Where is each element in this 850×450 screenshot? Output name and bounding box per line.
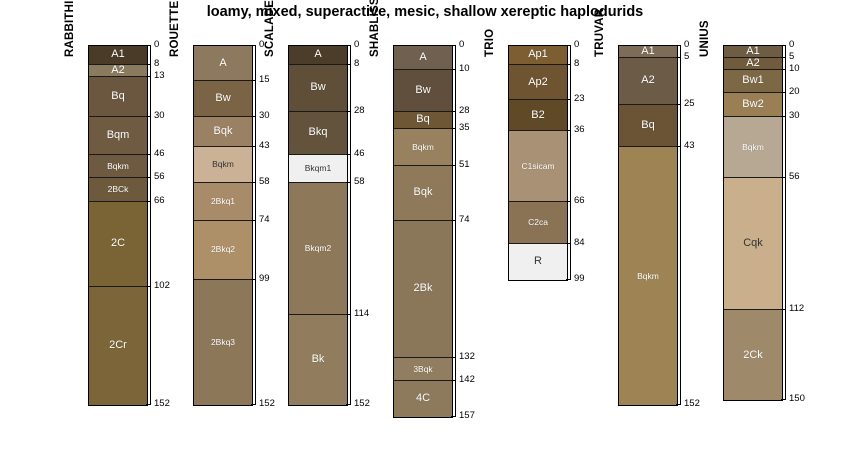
depth-tick — [566, 130, 571, 131]
depth-tick — [146, 286, 151, 287]
horizon-label: Bqkm — [742, 143, 764, 152]
depth-tick — [346, 182, 351, 183]
horizon-band: 2Bkq3 — [194, 280, 252, 405]
depth-tick-label: 30 — [259, 111, 270, 121]
depth-tick-label: 157 — [459, 411, 475, 421]
depth-tick-label: 56 — [789, 172, 800, 182]
depth-axis-line — [150, 45, 151, 404]
horizon-band: Ap2 — [509, 65, 567, 100]
depth-tick-label: 132 — [459, 352, 475, 362]
horizon-label: Bkq — [309, 127, 328, 138]
series-label-scalade: SCALADE — [264, 0, 276, 57]
horizon-label: Bq — [111, 91, 124, 102]
depth-tick-label: 152 — [154, 399, 170, 409]
depth-tick — [251, 146, 256, 147]
profile-column: A1A2BqBqmBqkm2BCk2C2Cr — [88, 45, 148, 406]
horizon-band: R — [509, 244, 567, 279]
depth-axis-line — [350, 45, 351, 404]
depth-axis-line — [455, 45, 456, 416]
depth-tick — [251, 80, 256, 81]
depth-tick — [146, 64, 151, 65]
horizon-band: A — [194, 46, 252, 81]
horizon-band: Bk — [289, 315, 347, 405]
horizon-label: Cqk — [743, 238, 763, 249]
horizon-band: B2 — [509, 100, 567, 131]
depth-tick-label: 56 — [154, 172, 165, 182]
horizon-label: 2C — [111, 238, 125, 249]
horizon-band: Bkqm2 — [289, 183, 347, 315]
depth-tick-label: 84 — [574, 238, 585, 248]
depth-tick-label: 58 — [259, 177, 270, 187]
horizon-band: A1 — [89, 46, 147, 65]
horizon-band: 2Bk — [394, 221, 452, 358]
depth-tick-label: 28 — [354, 106, 365, 116]
depth-tick — [146, 45, 151, 46]
depth-tick-label: 51 — [459, 160, 470, 170]
horizon-band: Bq — [89, 77, 147, 117]
horizon-band: Cqk — [724, 178, 782, 310]
depth-tick — [676, 57, 681, 58]
depth-tick — [781, 92, 786, 93]
horizon-band: Bw2 — [724, 93, 782, 117]
depth-tick-label: 30 — [789, 111, 800, 121]
depth-tick-label: 74 — [259, 215, 270, 225]
depth-tick — [451, 69, 456, 70]
depth-tick — [566, 99, 571, 100]
horizon-band: 4C — [394, 381, 452, 416]
soil-profile-plot: RABBITHILLSA1A2BqBqmBqkm2BCk2C2Cr0813304… — [0, 0, 850, 450]
depth-tick — [346, 45, 351, 46]
horizon-band: A2 — [619, 58, 677, 105]
depth-tick — [781, 177, 786, 178]
horizon-label: Bw2 — [742, 99, 763, 110]
depth-tick — [451, 380, 456, 381]
depth-tick — [346, 314, 351, 315]
horizon-label: 2Bkq1 — [211, 197, 235, 206]
horizon-label: C2ca — [528, 218, 548, 227]
depth-tick-label: 46 — [154, 149, 165, 159]
horizon-label: 2Ck — [743, 350, 763, 361]
horizon-label: Bw — [415, 85, 430, 96]
series-label-truvar: TRUVAR — [594, 9, 606, 57]
horizon-band: Bq — [619, 105, 677, 147]
depth-tick-label: 99 — [259, 274, 270, 284]
depth-tick — [146, 201, 151, 202]
depth-tick — [451, 220, 456, 221]
depth-tick — [781, 309, 786, 310]
horizon-band: Bqkm — [194, 147, 252, 182]
depth-axis-line — [680, 45, 681, 404]
series-label-shabliss: SHABLISS — [369, 0, 381, 57]
depth-tick-label: 35 — [459, 123, 470, 133]
horizon-label: Ap2 — [528, 77, 548, 88]
horizon-band: A — [289, 46, 347, 65]
horizon-label: A — [419, 52, 426, 63]
depth-tick — [251, 279, 256, 280]
depth-tick-label: 112 — [789, 304, 804, 314]
horizon-band: A2 — [724, 58, 782, 70]
depth-tick — [146, 404, 151, 405]
depth-tick-label: 0 — [574, 40, 579, 50]
depth-tick — [566, 45, 571, 46]
depth-tick-label: 66 — [574, 196, 585, 206]
depth-tick — [451, 416, 456, 417]
horizon-band: Bw — [394, 70, 452, 112]
depth-tick-label: 0 — [684, 40, 689, 50]
horizon-band: Bq — [394, 112, 452, 129]
depth-tick — [251, 116, 256, 117]
depth-tick — [566, 64, 571, 65]
depth-tick-label: 28 — [459, 106, 470, 116]
horizon-band: Bkqm1 — [289, 155, 347, 183]
horizon-label: A1 — [746, 46, 759, 57]
horizon-label: C1sicam — [521, 162, 554, 171]
horizon-band: Bqm — [89, 117, 147, 155]
depth-tick — [566, 243, 571, 244]
depth-tick-label: 99 — [574, 274, 585, 284]
depth-tick — [451, 128, 456, 129]
depth-tick-label: 43 — [684, 141, 695, 151]
horizon-band: Bqkm — [724, 117, 782, 178]
depth-axis-line — [255, 45, 256, 404]
depth-tick — [781, 45, 786, 46]
horizon-label: 2Bkq2 — [211, 245, 235, 254]
depth-tick-label: 114 — [354, 309, 369, 319]
horizon-label: Bqkm — [637, 272, 659, 281]
horizon-label: Bqk — [414, 187, 433, 198]
horizon-band: 2Cr — [89, 287, 147, 405]
depth-tick — [146, 116, 151, 117]
profile-column: Ap1Ap2B2C1sicamC2caR — [508, 45, 568, 281]
series-label-unius: UNIUS — [699, 20, 711, 57]
depth-tick — [566, 279, 571, 280]
horizon-label: Bw — [310, 82, 325, 93]
horizon-label: A1 — [111, 49, 124, 60]
horizon-label: Bq — [416, 114, 429, 125]
depth-tick — [451, 111, 456, 112]
depth-tick — [146, 177, 151, 178]
depth-tick — [676, 404, 681, 405]
depth-tick-label: 30 — [154, 111, 165, 121]
depth-tick — [346, 111, 351, 112]
horizon-label: A2 — [746, 58, 759, 69]
horizon-band: 2Bkq2 — [194, 221, 252, 280]
horizon-label: Bw1 — [742, 75, 763, 86]
depth-tick-label: 10 — [459, 64, 470, 74]
horizon-band: A1 — [724, 46, 782, 58]
horizon-label: Bkqm1 — [305, 164, 331, 173]
horizon-band: 2C — [89, 202, 147, 287]
depth-tick — [346, 154, 351, 155]
depth-tick-label: 13 — [154, 71, 165, 81]
depth-tick-label: 5 — [789, 52, 794, 62]
horizon-band: A1 — [619, 46, 677, 58]
horizon-band: 2BCk — [89, 178, 147, 202]
horizon-label: Bqm — [107, 130, 130, 141]
depth-tick — [346, 64, 351, 65]
series-label-trio: TRIO — [484, 29, 496, 57]
depth-tick-label: 150 — [789, 394, 805, 404]
depth-axis-line — [785, 45, 786, 399]
depth-tick-label: 43 — [259, 141, 270, 151]
horizon-band: A2 — [89, 65, 147, 77]
depth-tick-label: 8 — [574, 59, 579, 69]
horizon-label: Bq — [641, 120, 654, 131]
depth-tick-label: 58 — [354, 177, 365, 187]
depth-tick-label: 74 — [459, 215, 470, 225]
series-label-rouette: ROUETTE — [169, 1, 181, 57]
depth-tick-label: 8 — [354, 59, 359, 69]
depth-tick — [781, 69, 786, 70]
depth-tick — [781, 116, 786, 117]
depth-tick — [781, 399, 786, 400]
depth-tick-label: 0 — [354, 40, 359, 50]
depth-tick-label: 5 — [684, 52, 689, 62]
depth-tick — [676, 104, 681, 105]
depth-tick — [251, 220, 256, 221]
horizon-label: 3Bqk — [413, 365, 432, 374]
depth-tick — [251, 404, 256, 405]
horizon-label: B2 — [531, 110, 544, 121]
depth-tick-label: 0 — [154, 40, 159, 50]
horizon-band: Bkq — [289, 112, 347, 154]
depth-tick-label: 23 — [574, 94, 585, 104]
depth-tick-label: 46 — [354, 149, 365, 159]
depth-tick — [251, 182, 256, 183]
horizon-label: Bk — [312, 354, 325, 365]
depth-tick — [676, 146, 681, 147]
horizon-label: 2Cr — [109, 340, 127, 351]
horizon-band: Bqkm — [89, 155, 147, 179]
depth-tick — [251, 45, 256, 46]
horizon-label: Bw — [215, 93, 230, 104]
depth-tick — [146, 76, 151, 77]
depth-tick-label: 36 — [574, 125, 585, 135]
horizon-label: 2BCk — [108, 185, 129, 194]
profile-column: ABwBkqBkqm1Bkqm2Bk — [288, 45, 348, 406]
horizon-band: C1sicam — [509, 131, 567, 202]
horizon-label: 2Bkq3 — [211, 338, 235, 347]
depth-tick — [451, 165, 456, 166]
depth-tick-label: 8 — [154, 59, 159, 69]
depth-tick — [346, 404, 351, 405]
horizon-band: 3Bqk — [394, 358, 452, 382]
horizon-label: A2 — [111, 65, 124, 76]
depth-tick-label: 152 — [259, 399, 275, 409]
profile-column: ABwBqkBqkm2Bkq12Bkq22Bkq3 — [193, 45, 253, 406]
depth-tick-label: 10 — [789, 64, 800, 74]
horizon-band: 2Bkq1 — [194, 183, 252, 221]
depth-tick-label: 25 — [684, 99, 695, 109]
horizon-label: R — [534, 256, 542, 267]
horizon-label: A2 — [641, 75, 654, 86]
horizon-band: C2ca — [509, 202, 567, 244]
depth-tick-label: 152 — [354, 399, 370, 409]
horizon-label: A — [314, 49, 321, 60]
horizon-band: Bqk — [394, 166, 452, 220]
depth-tick-label: 66 — [154, 196, 165, 206]
horizon-label: Bqkm — [212, 160, 234, 169]
horizon-band: Bw1 — [724, 70, 782, 94]
profile-column: A1A2BqBqkm — [618, 45, 678, 406]
depth-tick — [781, 57, 786, 58]
depth-tick-label: 142 — [459, 375, 475, 385]
depth-tick — [146, 154, 151, 155]
depth-tick-label: 102 — [154, 281, 170, 291]
horizon-band: Bqkm — [619, 147, 677, 404]
horizon-label: Bkqm2 — [305, 244, 331, 253]
horizon-band: 2Ck — [724, 310, 782, 400]
horizon-label: Ap1 — [528, 49, 548, 60]
horizon-label: Bqk — [214, 126, 233, 137]
depth-tick-label: 20 — [789, 87, 800, 97]
depth-tick-label: 0 — [789, 40, 794, 50]
horizon-label: Bqkm — [412, 143, 434, 152]
horizon-label: A1 — [641, 46, 654, 57]
profile-column: ABwBqBqkmBqk2Bk3Bqk4C — [393, 45, 453, 418]
horizon-label: 2Bk — [414, 283, 433, 294]
horizon-band: Ap1 — [509, 46, 567, 65]
depth-tick-label: 0 — [459, 40, 464, 50]
horizon-band: Bqk — [194, 117, 252, 148]
horizon-label: A — [219, 58, 226, 69]
profile-column: A1A2Bw1Bw2BqkmCqk2Ck — [723, 45, 783, 401]
depth-tick-label: 15 — [259, 75, 270, 85]
horizon-band: A — [394, 46, 452, 70]
horizon-band: Bw — [194, 81, 252, 116]
horizon-band: Bw — [289, 65, 347, 112]
horizon-label: Bqkm — [107, 162, 129, 171]
depth-tick — [451, 45, 456, 46]
depth-tick — [676, 45, 681, 46]
depth-tick — [566, 201, 571, 202]
series-label-rabbithills: RABBITHILLS — [64, 0, 76, 57]
depth-tick — [451, 357, 456, 358]
horizon-label: 4C — [416, 393, 430, 404]
depth-tick-label: 152 — [684, 399, 700, 409]
horizon-band: Bqkm — [394, 129, 452, 167]
